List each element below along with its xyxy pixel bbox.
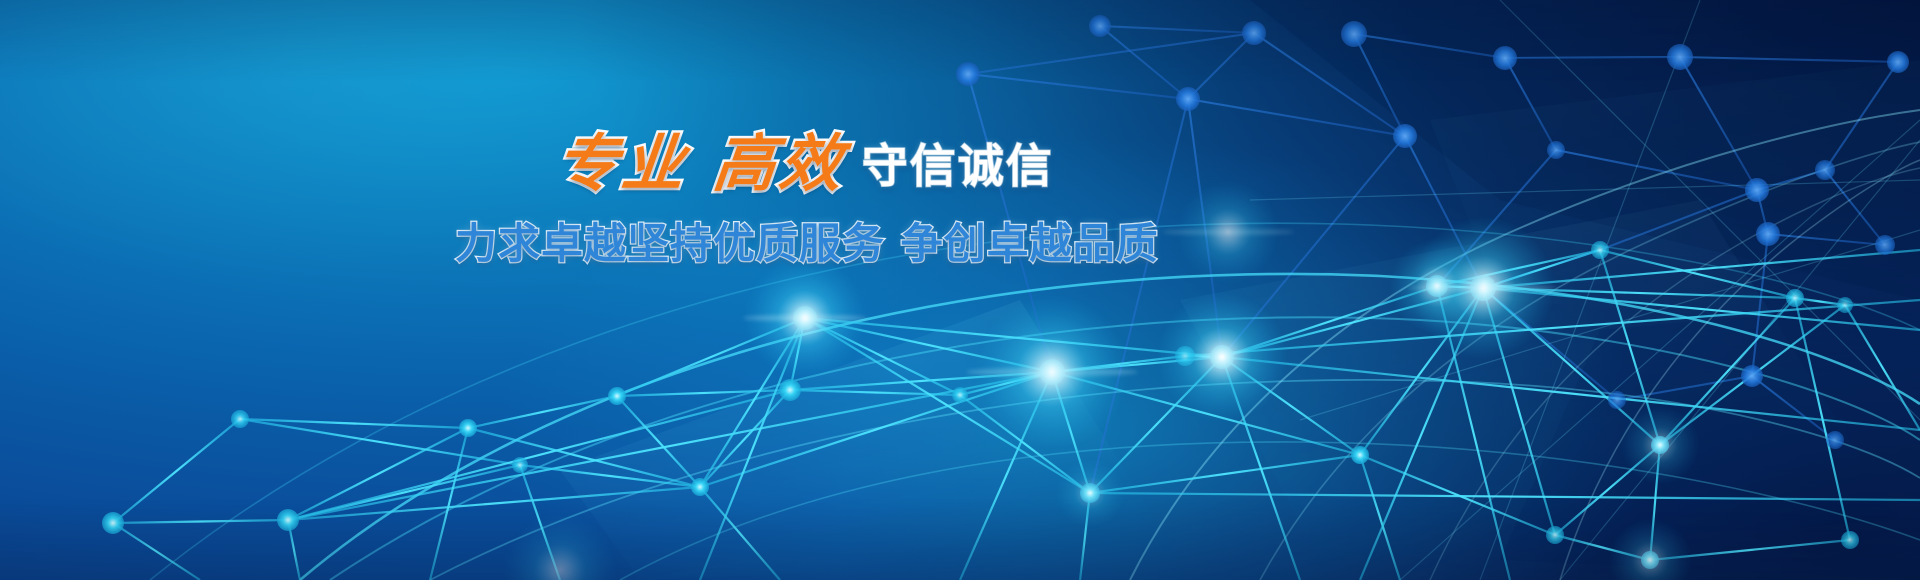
hero-banner: 专业 高效 守信诚信 力求卓越坚持优质服务 争创卓越品质 <box>0 0 1920 580</box>
headline-secondary-text: 守信诚信 <box>862 143 1054 189</box>
headline-block: 专业 高效 守信诚信 力求卓越坚持优质服务 争创卓越品质 <box>455 128 1155 271</box>
network-mesh-graphic <box>0 0 1920 580</box>
headline-subtitle: 力求卓越坚持优质服务 争创卓越品质 <box>455 210 1155 271</box>
headline-primary-line: 专业 高效 守信诚信 <box>455 128 1155 200</box>
headline-accent-text: 专业 高效 <box>553 133 849 195</box>
